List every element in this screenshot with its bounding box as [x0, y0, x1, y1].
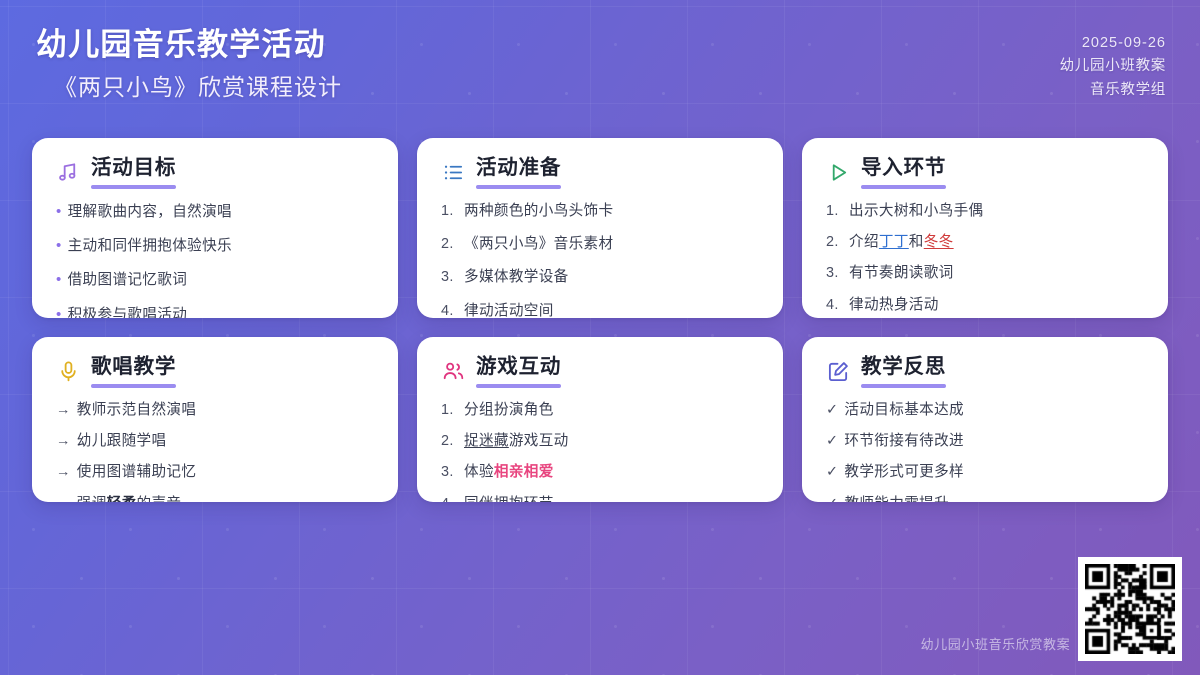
- card-header: 游戏互动: [441, 355, 761, 388]
- plain-text: 游戏互动: [509, 433, 569, 449]
- emphasis-text: 相亲相爱: [494, 464, 554, 480]
- list-marker: 1.: [826, 200, 843, 222]
- card-title: 游戏互动: [476, 355, 561, 379]
- list-item: 2.介绍丁丁和冬冬: [826, 231, 1146, 254]
- list-item-text: 活动目标基本达成: [844, 399, 964, 422]
- list-item: 4.同伴拥抱环节: [441, 493, 761, 502]
- list-item: 3.体验相亲相爱: [441, 461, 761, 484]
- list-item-text: 借助图谱记忆歌词: [68, 269, 188, 292]
- qr-code[interactable]: [1078, 557, 1182, 661]
- slide-header: 幼儿园音乐教学活动 《两只小鸟》欣赏课程设计 2025-09-26 幼儿园小班教…: [0, 0, 1200, 128]
- list-item: ✓教师能力需提升: [826, 493, 1146, 502]
- list-item: 2.《两只小鸟》音乐素材: [441, 233, 761, 256]
- card-title-underline: [861, 384, 946, 388]
- qr-code-image: [1085, 564, 1175, 654]
- list-marker: •: [56, 268, 62, 291]
- list-item-text: 《两只小鸟》音乐素材: [464, 233, 613, 256]
- list-marker: →: [56, 493, 71, 502]
- card-3[interactable]: 导入环节1.出示大树和小鸟手偶2.介绍丁丁和冬冬3.有节奏朗读歌词4.律动热身活…: [802, 138, 1168, 318]
- meta-group: 音乐教学组: [1090, 79, 1166, 102]
- card-grid: 活动目标•理解歌曲内容，自然演唱•主动和同伴拥抱体验快乐•借助图谱记忆歌词•积极…: [32, 138, 1168, 502]
- list-marker: ✓: [826, 430, 838, 452]
- card-title: 活动目标: [91, 156, 176, 180]
- list-marker: ✓: [826, 399, 838, 421]
- list-marker: •: [56, 234, 62, 257]
- list-item: 4.律动热身活动: [826, 294, 1146, 317]
- list-marker: ✓: [826, 493, 838, 502]
- card-item-list: •理解歌曲内容，自然演唱•主动和同伴拥抱体验快乐•借助图谱记忆歌词•积极参与歌唱…: [56, 200, 376, 318]
- list-item: 1.出示大树和小鸟手偶: [826, 200, 1146, 223]
- page-subtitle: 《两只小鸟》欣赏课程设计: [54, 73, 342, 103]
- card-item-list: 1.两种颜色的小鸟头饰卡2.《两只小鸟》音乐素材3.多媒体教学设备4.律动活动空…: [441, 200, 761, 318]
- list-marker: 2.: [441, 430, 458, 452]
- meta-category: 幼儿园小班教案: [1060, 55, 1166, 78]
- play-triangle-icon: [826, 161, 850, 185]
- card-header: 歌唱教学: [56, 355, 376, 388]
- card-title-wrap: 活动准备: [476, 156, 561, 189]
- list-marker: 3.: [826, 262, 843, 284]
- card-header: 活动目标: [56, 156, 376, 189]
- list-item: 2.捉迷藏游戏互动: [441, 430, 761, 453]
- music-note-icon: [56, 161, 80, 185]
- card-title-underline: [861, 185, 946, 189]
- list-marker: 3.: [441, 461, 458, 483]
- list-item-text: 体验相亲相爱: [464, 461, 554, 484]
- list-marker: →: [56, 461, 71, 483]
- list-item: →幼儿跟随学唱: [56, 430, 376, 453]
- list-item-text: 强调轻柔的声音: [77, 493, 182, 502]
- page-title: 幼儿园音乐教学活动: [36, 26, 342, 65]
- list-item-text: 幼儿跟随学唱: [77, 430, 167, 453]
- card-title-underline: [91, 384, 176, 388]
- plain-text: 的声音: [137, 496, 182, 502]
- list-item: 3.有节奏朗读歌词: [826, 262, 1146, 285]
- list-marker: 1.: [441, 200, 458, 222]
- list-marker: →: [56, 399, 71, 421]
- list-item: 1.分组扮演角色: [441, 399, 761, 422]
- plain-text: 体验: [464, 464, 494, 480]
- list-item-text: 两种颜色的小鸟头饰卡: [464, 200, 613, 223]
- card-title-underline: [476, 384, 561, 388]
- list-item-text: 使用图谱辅助记忆: [77, 461, 197, 484]
- title-block: 幼儿园音乐教学活动 《两只小鸟》欣赏课程设计: [36, 26, 342, 103]
- list-marker: 4.: [441, 300, 458, 318]
- list-item: 3.多媒体教学设备: [441, 266, 761, 289]
- card-1[interactable]: 活动目标•理解歌曲内容，自然演唱•主动和同伴拥抱体验快乐•借助图谱记忆歌词•积极…: [32, 138, 398, 318]
- list-marker: ✓: [826, 461, 838, 483]
- card-title-wrap: 歌唱教学: [91, 355, 176, 388]
- card-header: 导入环节: [826, 156, 1146, 189]
- plain-text: 介绍: [849, 234, 879, 250]
- card-title-wrap: 游戏互动: [476, 355, 561, 388]
- list-item: →强调轻柔的声音: [56, 493, 376, 502]
- card-4[interactable]: 歌唱教学→教师示范自然演唱→幼儿跟随学唱→使用图谱辅助记忆→强调轻柔的声音: [32, 337, 398, 502]
- list-item-text: 出示大树和小鸟手偶: [849, 200, 984, 223]
- list-item-text: 主动和同伴拥抱体验快乐: [68, 235, 232, 258]
- header-meta: 2025-09-26 幼儿园小班教案 音乐教学组: [1060, 26, 1166, 102]
- list-item: ✓环节衔接有待改进: [826, 430, 1146, 453]
- list-item: •借助图谱记忆歌词: [56, 268, 376, 292]
- list-marker: 4.: [441, 493, 458, 502]
- card-2[interactable]: 活动准备1.两种颜色的小鸟头饰卡2.《两只小鸟》音乐素材3.多媒体教学设备4.律…: [417, 138, 783, 318]
- footer-note: 幼儿园小班音乐欣赏教案 《: [921, 634, 1088, 653]
- list-marker: →: [56, 430, 71, 452]
- card-item-list: →教师示范自然演唱→幼儿跟随学唱→使用图谱辅助记忆→强调轻柔的声音: [56, 399, 376, 502]
- list-item-text: 教师示范自然演唱: [77, 399, 197, 422]
- list-item-text: 教学形式可更多样: [844, 461, 964, 484]
- card-5[interactable]: 游戏互动1.分组扮演角色2.捉迷藏游戏互动3.体验相亲相爱4.同伴拥抱环节: [417, 337, 783, 502]
- list-item-text: 理解歌曲内容，自然演唱: [68, 201, 232, 224]
- card-title-underline: [91, 185, 176, 189]
- list-item-text: 律动热身活动: [849, 294, 939, 317]
- list-item-text: 分组扮演角色: [464, 399, 554, 422]
- list-item-text: 同伴拥抱环节: [464, 493, 554, 502]
- card-item-list: ✓活动目标基本达成✓环节衔接有待改进✓教学形式可更多样✓教师能力需提升: [826, 399, 1146, 502]
- card-title: 活动准备: [476, 156, 561, 180]
- plain-text: 强调: [77, 496, 107, 502]
- card-title-underline: [476, 185, 561, 189]
- list-marker: •: [56, 200, 62, 223]
- list-item-text: 介绍丁丁和冬冬: [849, 231, 954, 254]
- meta-date: 2025-09-26: [1082, 32, 1166, 55]
- list-marker: 4.: [826, 294, 843, 316]
- emphasis-text: 轻柔: [107, 496, 137, 502]
- list-item-text: 环节衔接有待改进: [844, 430, 964, 453]
- list-item-text: 有节奏朗读歌词: [849, 262, 954, 285]
- card-item-list: 1.分组扮演角色2.捉迷藏游戏互动3.体验相亲相爱4.同伴拥抱环节: [441, 399, 761, 502]
- list-item: ✓教学形式可更多样: [826, 461, 1146, 484]
- card-header: 活动准备: [441, 156, 761, 189]
- list-icon: [441, 161, 465, 185]
- list-item-text: 律动活动空间: [464, 300, 554, 318]
- card-6[interactable]: 教学反思✓活动目标基本达成✓环节衔接有待改进✓教学形式可更多样✓教师能力需提升: [802, 337, 1168, 502]
- list-item: ✓活动目标基本达成: [826, 399, 1146, 422]
- list-marker: 1.: [441, 399, 458, 421]
- card-title-wrap: 教学反思: [861, 355, 946, 388]
- list-marker: 3.: [441, 266, 458, 288]
- list-item-text: 捉迷藏游戏互动: [464, 430, 569, 453]
- list-marker: 2.: [441, 233, 458, 255]
- list-marker: 2.: [826, 231, 843, 253]
- list-item-text: 积极参与歌唱活动: [68, 304, 188, 318]
- card-title: 导入环节: [861, 156, 946, 180]
- plain-text: 和: [909, 234, 924, 250]
- list-item: •积极参与歌唱活动: [56, 303, 376, 318]
- emphasis-text: 冬冬: [924, 234, 954, 250]
- microphone-icon: [56, 360, 80, 384]
- emphasis-text: 丁丁: [879, 234, 909, 250]
- emphasis-text: 捉迷藏: [464, 433, 509, 449]
- card-title-wrap: 活动目标: [91, 156, 176, 189]
- list-item-text: 教师能力需提升: [844, 493, 949, 502]
- list-item: •理解歌曲内容，自然演唱: [56, 200, 376, 224]
- list-item: 1.两种颜色的小鸟头饰卡: [441, 200, 761, 223]
- card-title-wrap: 导入环节: [861, 156, 946, 189]
- card-title: 歌唱教学: [91, 355, 176, 379]
- edit-square-icon: [826, 360, 850, 384]
- list-item: →使用图谱辅助记忆: [56, 461, 376, 484]
- list-item-text: 多媒体教学设备: [464, 266, 569, 289]
- slide-root: 幼儿园音乐教学活动 《两只小鸟》欣赏课程设计 2025-09-26 幼儿园小班教…: [0, 0, 1200, 675]
- people-icon: [441, 360, 465, 384]
- list-item: →教师示范自然演唱: [56, 399, 376, 422]
- card-item-list: 1.出示大树和小鸟手偶2.介绍丁丁和冬冬3.有节奏朗读歌词4.律动热身活动: [826, 200, 1146, 316]
- list-item: 4.律动活动空间: [441, 300, 761, 318]
- list-marker: •: [56, 303, 62, 318]
- card-title: 教学反思: [861, 355, 946, 379]
- list-item: •主动和同伴拥抱体验快乐: [56, 234, 376, 258]
- card-header: 教学反思: [826, 355, 1146, 388]
